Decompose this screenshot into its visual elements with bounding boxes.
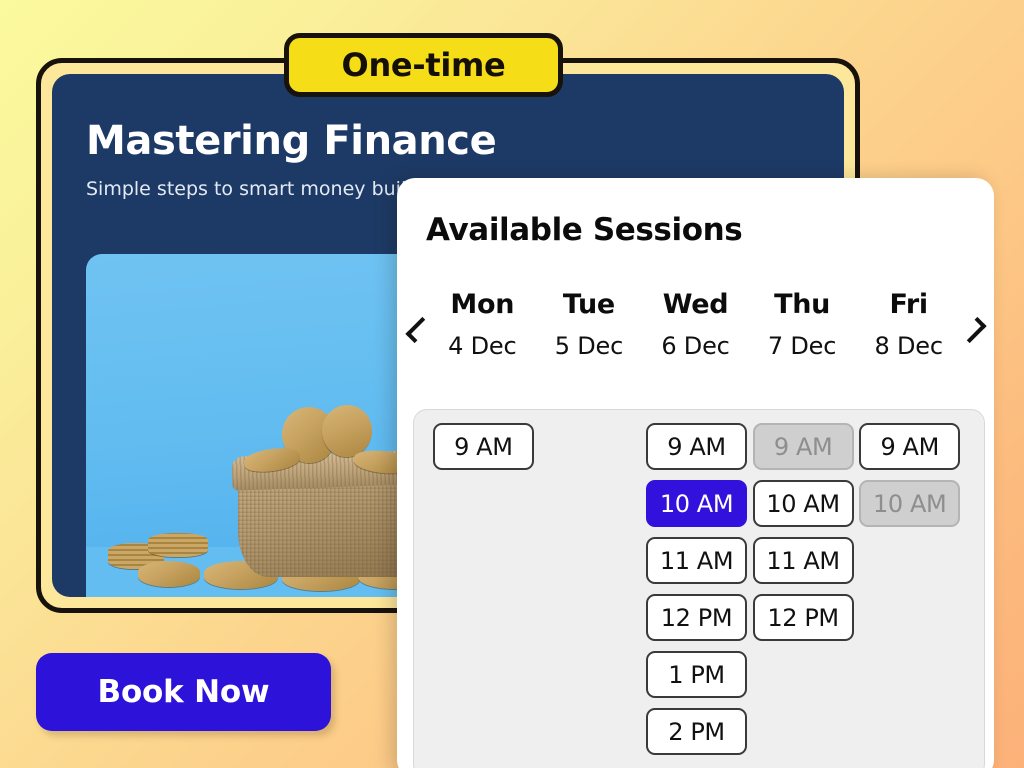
slot-column-mon: 9 AM — [430, 423, 537, 755]
day-name: Tue — [536, 282, 643, 328]
time-slot-button[interactable]: 12 PM — [753, 594, 854, 641]
day-name: Thu — [749, 282, 856, 328]
time-slot-button[interactable]: 11 AM — [753, 537, 854, 584]
day-column-wed[interactable]: Wed6 Dec — [642, 282, 749, 378]
coin — [138, 561, 200, 587]
time-slot-button[interactable]: 2 PM — [646, 708, 747, 755]
time-slot-grid: 9 AM9 AM10 AM11 AM12 PM1 PM2 PM9 AM10 AM… — [430, 423, 963, 755]
time-slot-grid-container: 9 AM9 AM10 AM11 AM12 PM1 PM2 PM9 AM10 AM… — [413, 409, 985, 768]
day-column-tue[interactable]: Tue5 Dec — [536, 282, 643, 378]
chevron-left-icon — [405, 317, 431, 343]
promo-booking-screen: Mastering Finance Simple steps to smart … — [0, 0, 1024, 768]
day-column-thu[interactable]: Thu7 Dec — [749, 282, 856, 378]
sessions-heading: Available Sessions — [426, 212, 742, 248]
slot-column-wed: 9 AM10 AM11 AM12 PM1 PM2 PM — [643, 423, 750, 755]
day-name: Mon — [429, 282, 536, 328]
time-slot-button[interactable]: 9 AM — [859, 423, 960, 470]
day-date: 7 Dec — [749, 328, 856, 364]
day-date: 6 Dec — [642, 328, 749, 364]
time-slot-button[interactable]: 10 AM — [646, 480, 747, 527]
time-slot-button[interactable]: 9 AM — [433, 423, 534, 470]
day-header-row: Mon4 DecTue5 DecWed6 DecThu7 DecFri8 Dec — [429, 282, 962, 378]
time-slot-button[interactable]: 11 AM — [646, 537, 747, 584]
time-slot-button[interactable]: 1 PM — [646, 651, 747, 698]
slot-column-tue — [537, 423, 644, 755]
time-slot-button: 10 AM — [859, 480, 960, 527]
day-date: 5 Dec — [536, 328, 643, 364]
day-date: 8 Dec — [855, 328, 962, 364]
day-column-mon[interactable]: Mon4 Dec — [429, 282, 536, 378]
time-slot-button: 9 AM — [753, 423, 854, 470]
time-slot-button[interactable]: 10 AM — [753, 480, 854, 527]
coin-stack — [148, 533, 208, 557]
next-week-button[interactable] — [956, 310, 990, 350]
book-now-button[interactable]: Book Now — [36, 653, 331, 731]
day-name: Fri — [855, 282, 962, 328]
day-date: 4 Dec — [429, 328, 536, 364]
slot-column-fri: 9 AM10 AM — [856, 423, 963, 755]
chevron-right-icon — [960, 317, 986, 343]
day-column-fri[interactable]: Fri8 Dec — [855, 282, 962, 378]
time-slot-button[interactable]: 12 PM — [646, 594, 747, 641]
day-name: Wed — [642, 282, 749, 328]
week-navigation: Mon4 DecTue5 DecWed6 DecThu7 DecFri8 Dec — [397, 282, 994, 378]
time-slot-button[interactable]: 9 AM — [646, 423, 747, 470]
slot-column-thu: 9 AM10 AM11 AM12 PM — [750, 423, 857, 755]
status-badge: One-time — [284, 33, 563, 97]
page-title: Mastering Finance — [86, 118, 496, 164]
available-sessions-panel: Available Sessions Mon4 DecTue5 DecWed6 … — [397, 178, 994, 768]
